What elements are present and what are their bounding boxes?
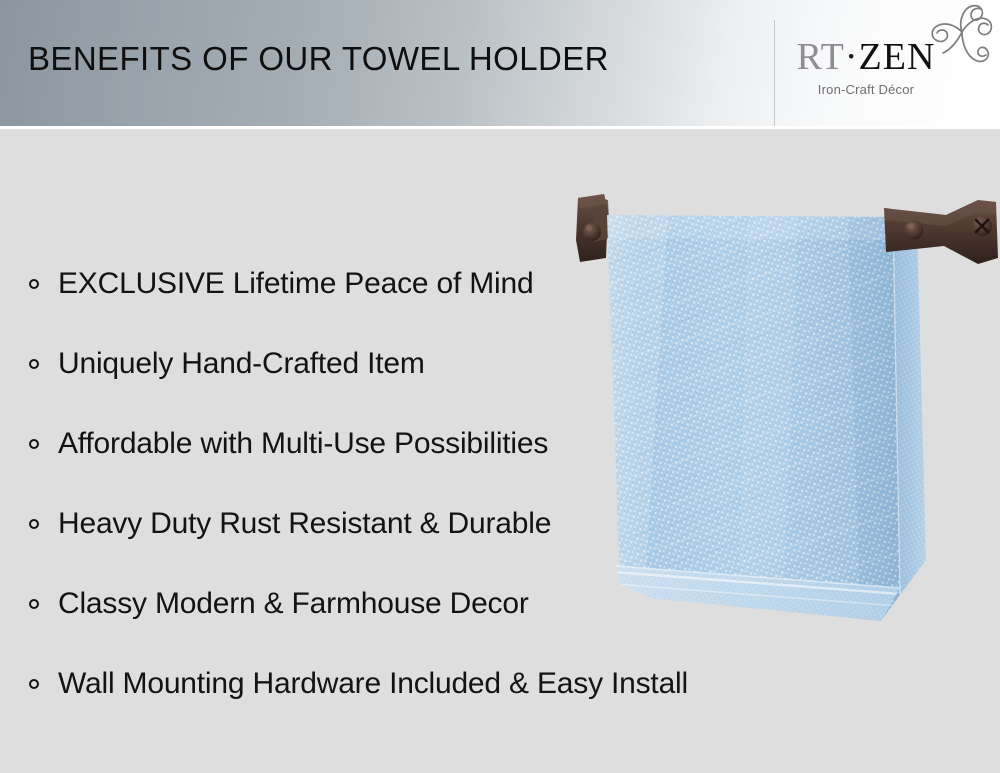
page-title: BENEFITS OF OUR TOWEL HOLDER bbox=[28, 40, 609, 78]
scroll-flourish-icon bbox=[918, 0, 1000, 76]
logo-wordmark-dot: · bbox=[845, 36, 859, 78]
towel bbox=[588, 180, 948, 680]
logo-wordmark-rt: RT bbox=[797, 36, 845, 78]
bullet-ring-icon bbox=[29, 439, 39, 449]
logo-divider bbox=[774, 20, 775, 126]
bullet-ring-icon bbox=[29, 599, 39, 609]
benefit-text: Heavy Duty Rust Resistant & Durable bbox=[58, 507, 551, 541]
benefit-text: Affordable with Multi-Use Possibilities bbox=[58, 427, 548, 461]
benefit-text: EXCLUSIVE Lifetime Peace of Mind bbox=[58, 267, 534, 301]
towel-holder-product-image bbox=[548, 180, 1000, 680]
left-bracket-stud bbox=[583, 223, 601, 241]
left-bracket bbox=[576, 194, 610, 262]
bullet-ring-icon bbox=[29, 359, 39, 369]
bullet-ring-icon bbox=[29, 279, 39, 289]
slide-canvas: BENEFITS OF OUR TOWEL HOLDER RT·ZEN Iron… bbox=[0, 0, 1000, 773]
benefit-text: Uniquely Hand-Crafted Item bbox=[58, 347, 425, 381]
logo-tagline: Iron-Craft Décor bbox=[786, 82, 946, 97]
header-underline bbox=[0, 126, 1000, 129]
benefit-text: Classy Modern & Farmhouse Decor bbox=[58, 587, 529, 621]
bullet-ring-icon bbox=[29, 519, 39, 529]
right-bracket-stud bbox=[905, 221, 924, 240]
bullet-ring-icon bbox=[29, 679, 39, 689]
phillips-screw-icon bbox=[972, 216, 992, 236]
